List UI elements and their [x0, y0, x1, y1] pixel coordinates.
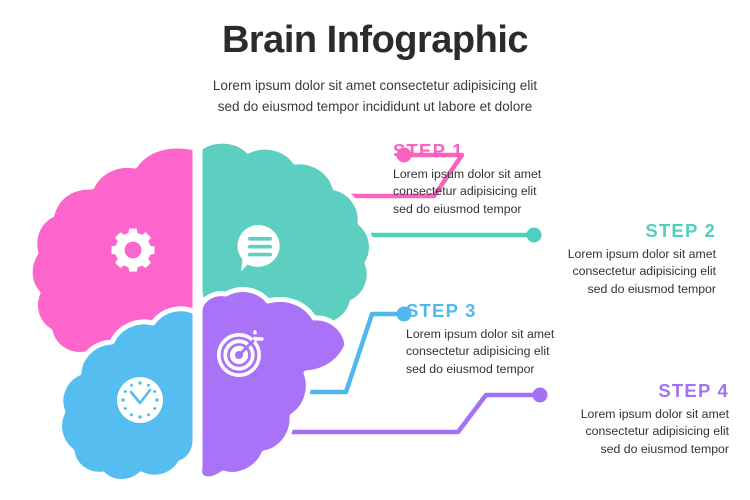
step-4-desc-line-3: sed do eiusmod tempor — [533, 441, 729, 459]
step-label-4: STEP 4 — [533, 382, 729, 401]
step-2-desc-line-3: sed do eiusmod tempor — [520, 281, 716, 299]
step-label-2: STEP 2 — [520, 222, 716, 241]
step-description-3: Lorem ipsum dolor sit amet consectetur a… — [406, 326, 591, 379]
step-block-3[interactable]: STEP 3 Lorem ipsum dolor sit amet consec… — [406, 302, 591, 379]
step-1-desc-line-3: sed do eiusmod tempor — [393, 201, 578, 219]
gear-icon — [112, 229, 155, 272]
step-1-desc-line-2: consectetur adipisicing elit — [393, 183, 578, 201]
brain-quadrant-bottom-right[interactable] — [200, 290, 347, 479]
step-2-desc-line-2: consectetur adipisicing elit — [520, 263, 716, 281]
step-block-2[interactable]: STEP 2 Lorem ipsum dolor sit amet consec… — [520, 222, 716, 299]
step-block-4[interactable]: STEP 4 Lorem ipsum dolor sit amet consec… — [533, 382, 729, 459]
step-2-desc-line-1: Lorem ipsum dolor sit amet — [520, 246, 716, 264]
step-description-1: Lorem ipsum dolor sit amet consectetur a… — [393, 166, 578, 219]
step-4-desc-line-2: consectetur adipisicing elit — [533, 423, 729, 441]
step-label-1: STEP 1 — [393, 142, 578, 161]
brain-lobe-purple — [200, 290, 347, 479]
step-label-3: STEP 3 — [406, 302, 591, 321]
clock-icon — [117, 377, 163, 423]
step-block-1[interactable]: STEP 1 Lorem ipsum dolor sit amet consec… — [393, 142, 578, 219]
step-4-desc-line-1: Lorem ipsum dolor sit amet — [533, 406, 729, 424]
step-3-desc-line-3: sed do eiusmod tempor — [406, 361, 591, 379]
step-1-desc-line-1: Lorem ipsum dolor sit amet — [393, 166, 578, 184]
step-description-4: Lorem ipsum dolor sit amet consectetur a… — [533, 406, 729, 459]
brain-infographic: Brain Infographic Lorem ipsum dolor sit … — [0, 0, 750, 500]
step-description-2: Lorem ipsum dolor sit amet consectetur a… — [520, 246, 716, 299]
step-3-desc-line-2: consectetur adipisicing elit — [406, 343, 591, 361]
step-3-desc-line-1: Lorem ipsum dolor sit amet — [406, 326, 591, 344]
